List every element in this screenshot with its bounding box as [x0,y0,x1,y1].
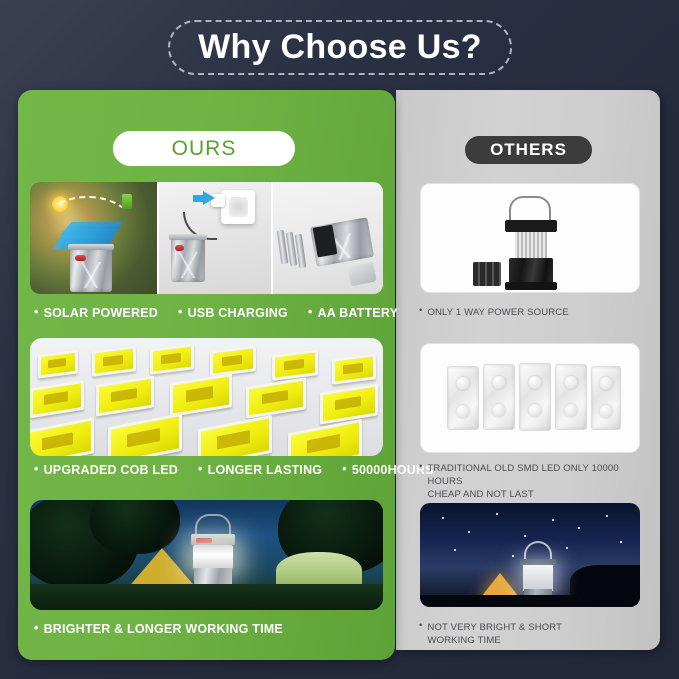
lantern-top-cap [169,234,207,240]
lantern-handle [524,541,552,559]
others-black-lantern-photo [420,183,640,293]
page-title-frame: Why Choose Us? [168,20,512,75]
feature-label: LONGER LASTING [208,463,323,477]
smd-segment-2 [483,364,515,430]
charge-direction-arrow-icon [203,191,215,205]
battery-cover-plate [347,262,377,287]
bullet-icon: • [419,462,422,472]
lantern-led-ribs [515,232,547,258]
bullet-icon: • [34,463,39,476]
foreground-ground [420,595,640,607]
smd-segment-5 [591,366,621,430]
tree-left-2 [90,500,180,554]
lantern-body [171,238,205,282]
feature-aa-battery: • AA BATTERY [308,306,398,320]
others-feature-smd-led: • TRADITIONAL OLD SMD LED ONLY 10000 HOU… [419,462,647,501]
ours-header-label: OURS [172,137,237,161]
lantern-light-panel [193,545,233,569]
ours-feature-row-3: • BRIGHTER & LONGER WORKING TIME [34,622,283,636]
others-feature-power-source: • ONLY 1 WAY POWER SOURCE [419,306,569,319]
others-feature-row-1: • ONLY 1 WAY POWER SOURCE [419,306,644,319]
ours-power-sources-collage [30,182,383,294]
others-feature-label: ONLY 1 WAY POWER SOURCE [427,306,568,319]
page-title: Why Choose Us? [198,28,482,67]
others-feature-row-3: • NOT VERY BRIGHT & SHORT WORKING TIME [419,621,644,647]
others-feature-label-line1: TRADITIONAL OLD SMD LED ONLY 10000 HOURS [427,463,618,487]
bullet-icon: • [34,622,39,635]
feature-label: UPGRADED COB LED [44,463,178,477]
ours-header-badge: OURS [113,131,295,166]
smd-segment-1 [447,366,479,430]
others-header-label: OTHERS [490,140,567,160]
lantern-light-panel [523,565,553,591]
lantern-red-switch [196,538,212,543]
aa-battery-compartment-illustration [273,182,383,294]
wall-socket-icon [221,190,255,224]
others-feature-label-line1: NOT VERY BRIGHT & SHORT [427,622,562,633]
aa-battery-pack [473,262,501,286]
ours-cob-led-array-photo [30,338,383,456]
lantern-top-cap [505,220,557,232]
others-header-badge: OTHERS [465,136,592,164]
others-starry-night-photo [420,503,640,607]
bullet-icon: • [419,621,422,631]
bullet-icon: • [308,306,313,319]
feature-label: AA BATTERY [317,306,398,320]
others-smd-led-strip-photo [420,343,640,453]
ours-feature-row-1: • SOLAR POWERED • USB CHARGING • AA BATT… [34,306,398,320]
feature-upgraded-cob-led: • UPGRADED COB LED [34,463,178,477]
bullet-icon: • [178,306,183,319]
charge-direction-arrow-tail [193,195,204,202]
others-feature-row-2: • TRADITIONAL OLD SMD LED ONLY 10000 HOU… [419,462,647,501]
feature-label: SOLAR POWERED [44,306,158,320]
feature-longer-lasting: • LONGER LASTING [198,463,322,477]
smd-segment-4 [555,364,587,430]
smd-segment-3 [519,363,551,431]
feature-label: USB CHARGING [188,306,288,320]
others-feature-label-line2: CHEAP AND NOT LAST [427,489,533,500]
feature-brighter-longer-working-time: • BRIGHTER & LONGER WORKING TIME [34,622,283,636]
ours-camping-night-scene-photo [30,500,383,610]
bullet-icon: • [342,463,347,476]
bullet-icon: • [198,463,203,476]
green-battery-chip-icon [122,194,132,209]
bullet-icon: • [34,306,39,319]
grass-ground [30,584,383,610]
usb-wall-charging-illustration [159,182,270,294]
lantern-handle [195,514,231,536]
bullet-icon: • [419,306,422,316]
solar-charging-illustration [30,182,157,294]
lantern-base [505,282,557,290]
ours-feature-row-2: • UPGRADED COB LED • LONGER LASTING • 50… [34,463,434,477]
feature-hours-value: 50000 [352,463,388,477]
others-feature-brightness: • NOT VERY BRIGHT & SHORT WORKING TIME [419,621,562,647]
lantern-handle [509,196,551,222]
others-feature-label-line2: WORKING TIME [427,635,500,646]
feature-solar-powered: • SOLAR POWERED [34,306,158,320]
feature-label: BRIGHTER & LONGER WORKING TIME [44,622,283,636]
feature-usb-charging: • USB CHARGING [178,306,288,320]
lantern-top-cap [68,244,114,250]
lantern-body [70,248,112,292]
